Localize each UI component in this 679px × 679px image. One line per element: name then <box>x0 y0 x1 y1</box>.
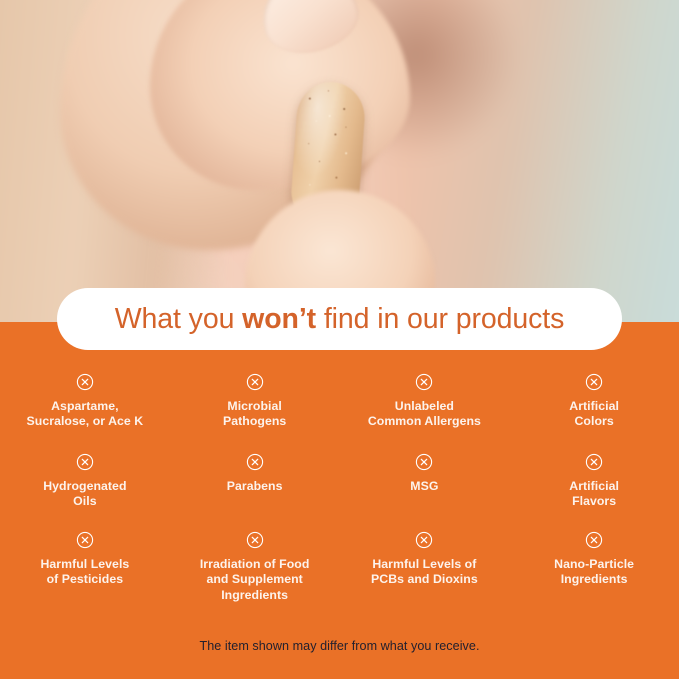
circle-x-icon <box>585 453 603 471</box>
exclusion-item-msg: MSG <box>340 448 510 526</box>
exclusion-item-label: Irradiation of Foodand SupplementIngredi… <box>200 557 310 603</box>
grid-row: Aspartame,Sucralose, or Ace K MicrobialP… <box>0 368 679 448</box>
page-title: What you won’t find in our products <box>115 303 565 336</box>
exclusion-item-nano-particle-ingredients: Nano-ParticleIngredients <box>509 526 679 610</box>
exclusion-item-label: HydrogenatedOils <box>43 479 126 510</box>
exclusion-item-label: UnlabeledCommon Allergens <box>368 399 481 430</box>
circle-x-icon <box>246 531 264 549</box>
exclusion-item-irradiation-of-food-and-supplement-ingredients: Irradiation of Foodand SupplementIngredi… <box>170 526 340 610</box>
circle-x-icon <box>76 531 94 549</box>
exclusion-item-label: MicrobialPathogens <box>223 399 286 430</box>
exclusion-item-artificial-colors: ArtificialColors <box>509 368 679 448</box>
disclaimer-text: The item shown may differ from what you … <box>0 639 679 653</box>
exclusion-item-label: MSG <box>410 479 438 494</box>
exclusion-item-label: Nano-ParticleIngredients <box>554 557 634 588</box>
exclusion-item-parabens: Parabens <box>170 448 340 526</box>
exclusion-item-artificial-flavors: ArtificialFlavors <box>509 448 679 526</box>
exclusion-item-harmful-levels-of-pesticides: Harmful Levelsof Pesticides <box>0 526 170 610</box>
exclusion-item-label: Harmful Levels ofPCBs and Dioxins <box>371 557 478 588</box>
exclusion-item-label: Harmful Levelsof Pesticides <box>40 557 129 588</box>
exclusion-item-label: Parabens <box>227 479 283 494</box>
circle-x-icon <box>415 453 433 471</box>
circle-x-icon <box>415 531 433 549</box>
product-photo <box>0 0 679 322</box>
grid-row: Harmful Levelsof Pesticides Irradiation … <box>0 526 679 610</box>
headline-pill: What you won’t find in our products <box>57 288 622 350</box>
exclusion-item-label: ArtificialFlavors <box>569 479 619 510</box>
circle-x-icon <box>415 373 433 391</box>
exclusion-item-label: Aspartame,Sucralose, or Ace K <box>27 399 144 430</box>
exclusion-item-microbial-pathogens: MicrobialPathogens <box>170 368 340 448</box>
circle-x-icon <box>76 453 94 471</box>
circle-x-icon <box>585 531 603 549</box>
exclusion-item-harmful-levels-of-pcbs-and-dioxins: Harmful Levels ofPCBs and Dioxins <box>340 526 510 610</box>
exclusion-item-unlabeled-common-allergens: UnlabeledCommon Allergens <box>340 368 510 448</box>
headline-prefix: What you <box>115 303 242 335</box>
headline-emphasis: won’t <box>242 303 316 335</box>
circle-x-icon <box>585 373 603 391</box>
product-infographic: What you won’t find in our products Aspa… <box>0 0 679 679</box>
exclusion-item-label: ArtificialColors <box>569 399 619 430</box>
circle-x-icon <box>246 453 264 471</box>
excluded-ingredients-grid: Aspartame,Sucralose, or Ace K MicrobialP… <box>0 368 679 610</box>
headline-suffix: find in our products <box>316 303 564 335</box>
circle-x-icon <box>246 373 264 391</box>
grid-row: HydrogenatedOils Parabens MSG Artificial… <box>0 448 679 526</box>
circle-x-icon <box>76 373 94 391</box>
exclusion-item-hydrogenated-oils: HydrogenatedOils <box>0 448 170 526</box>
exclusion-item-aspartame-sucralose-ace-k: Aspartame,Sucralose, or Ace K <box>0 368 170 448</box>
